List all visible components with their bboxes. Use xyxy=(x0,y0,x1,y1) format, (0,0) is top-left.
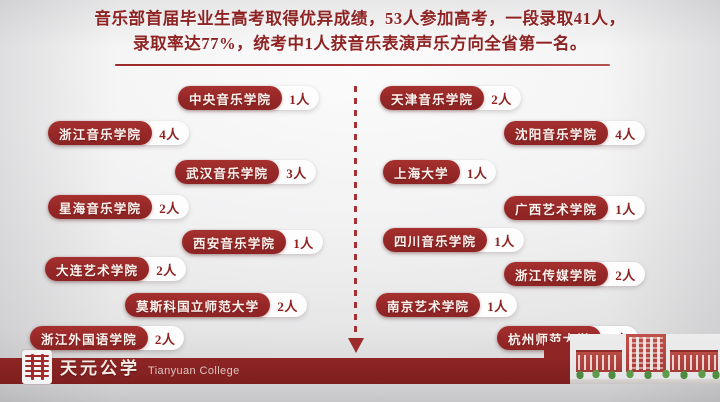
list-item[interactable]: 浙江外国语学院 2人 xyxy=(30,326,184,350)
campus-ground xyxy=(570,379,720,384)
school-count: 1人 xyxy=(282,86,319,110)
campus-tower xyxy=(626,334,666,372)
list-item[interactable]: 浙江音乐学院 4人 xyxy=(48,121,189,145)
footer-corner-block xyxy=(544,342,570,358)
list-item[interactable]: 南京艺术学院 1人 xyxy=(376,293,517,317)
list-item[interactable]: 沈阳音乐学院 4人 xyxy=(504,121,645,145)
school-name: 中央音乐学院 xyxy=(178,86,282,110)
title-divider xyxy=(115,64,610,66)
school-count: 1人 xyxy=(480,293,517,317)
logo-name-en: Tianyuan College xyxy=(148,365,240,377)
list-item[interactable]: 广西艺术学院 1人 xyxy=(504,196,645,220)
school-count: 2人 xyxy=(608,262,645,286)
school-name: 大连艺术学院 xyxy=(45,257,149,281)
list-item[interactable]: 大连艺术学院 2人 xyxy=(45,257,186,281)
school-name: 西安音乐学院 xyxy=(182,230,286,254)
dashed-line xyxy=(354,86,357,342)
school-count: 4人 xyxy=(608,121,645,145)
list-item[interactable]: 四川音乐学院 1人 xyxy=(383,228,524,252)
school-name: 武汉音乐学院 xyxy=(175,160,279,184)
school-name: 南京艺术学院 xyxy=(376,293,480,317)
arrow-down-icon xyxy=(348,338,364,353)
campus-illustration xyxy=(570,334,720,384)
school-name: 莫斯科国立师范大学 xyxy=(125,293,270,317)
infographic-canvas: 音乐部首届毕业生高考取得优异成绩，53人参加高考，一段录取41人， 录取率达77… xyxy=(0,0,720,402)
school-count: 1人 xyxy=(608,196,645,220)
school-name: 天津音乐学院 xyxy=(380,86,484,110)
school-name: 星海音乐学院 xyxy=(48,195,152,219)
list-item[interactable]: 西安音乐学院 1人 xyxy=(182,230,323,254)
school-count: 2人 xyxy=(148,326,185,350)
school-name: 上海大学 xyxy=(383,160,460,184)
school-name: 浙江外国语学院 xyxy=(30,326,148,350)
school-count: 2人 xyxy=(484,86,521,110)
headline-line-1: 音乐部首届毕业生高考取得优异成绩，53人参加高考，一段录取41人， xyxy=(0,6,720,31)
school-count: 2人 xyxy=(149,257,186,281)
school-name: 四川音乐学院 xyxy=(383,228,487,252)
list-item[interactable]: 莫斯科国立师范大学 2人 xyxy=(125,293,307,317)
list-item[interactable]: 天津音乐学院 2人 xyxy=(380,86,521,110)
school-count: 1人 xyxy=(487,228,524,252)
seal-emblem-icon xyxy=(22,350,52,384)
page-title: 音乐部首届毕业生高考取得优异成绩，53人参加高考，一段录取41人， 录取率达77… xyxy=(0,6,720,56)
school-count: 3人 xyxy=(279,160,316,184)
list-item[interactable]: 中央音乐学院 1人 xyxy=(178,86,319,110)
list-item[interactable]: 星海音乐学院 2人 xyxy=(48,195,189,219)
school-count: 2人 xyxy=(152,195,189,219)
school-name: 浙江传媒学院 xyxy=(504,262,608,286)
list-item[interactable]: 武汉音乐学院 3人 xyxy=(175,160,316,184)
school-count: 2人 xyxy=(270,293,307,317)
logo-name-cn: 天元公学 xyxy=(60,354,140,379)
school-count: 1人 xyxy=(460,160,497,184)
footer-underlay xyxy=(0,384,720,402)
center-dashed-arrow xyxy=(348,86,364,362)
brand-logo: 天元公学 Tianyuan College xyxy=(22,350,240,384)
school-name: 浙江音乐学院 xyxy=(48,121,152,145)
school-count: 1人 xyxy=(286,230,323,254)
school-name: 广西艺术学院 xyxy=(504,196,608,220)
headline-line-2: 录取率达77%，统考中1人获音乐表演声乐方向全省第一名。 xyxy=(0,31,720,56)
school-name: 沈阳音乐学院 xyxy=(504,121,608,145)
list-item[interactable]: 浙江传媒学院 2人 xyxy=(504,262,645,286)
school-count: 4人 xyxy=(152,121,189,145)
list-item[interactable]: 上海大学 1人 xyxy=(383,160,496,184)
